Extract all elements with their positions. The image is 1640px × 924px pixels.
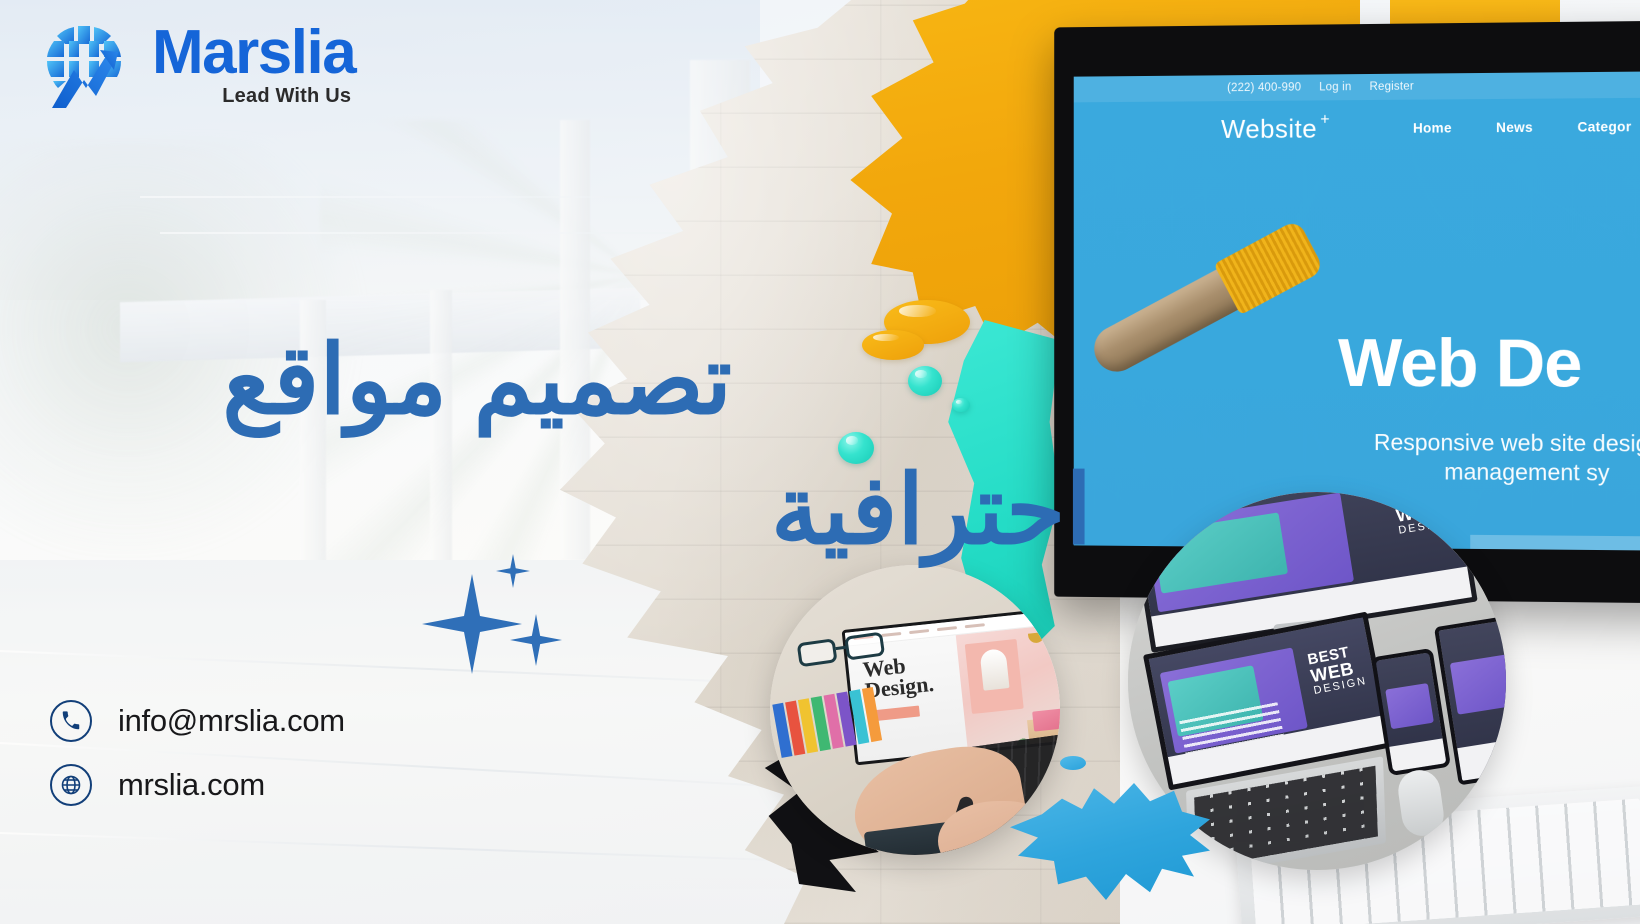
- teal-droplet-1: [908, 366, 942, 396]
- contact-block: info@mrslia.com mrslia.com: [50, 700, 345, 828]
- website-logo-text: Website: [1221, 113, 1317, 144]
- page-headline: تصميم مواقع احترافية: [0, 330, 760, 562]
- contact-row-email[interactable]: info@mrslia.com: [50, 700, 345, 742]
- nav-item-home[interactable]: Home: [1413, 120, 1452, 135]
- photo-designer-laptop: Web Design.: [770, 565, 1060, 855]
- room-screen: [1032, 708, 1060, 731]
- glasses-lens-right: [844, 632, 885, 661]
- topbar-register-link[interactable]: Register: [1369, 81, 1413, 93]
- blue-paint-dot: [1060, 756, 1086, 770]
- globe-icon: [50, 764, 92, 806]
- phone-bottom-strip: [1389, 739, 1446, 772]
- glasses-lens-left: [797, 638, 838, 667]
- phone-panel: [1385, 683, 1434, 730]
- hero-title: Web De: [1338, 324, 1581, 403]
- website-logo: Website+: [1221, 113, 1317, 145]
- contact-row-website[interactable]: mrslia.com: [50, 764, 345, 806]
- tablet-panel: [1450, 654, 1506, 715]
- website-nav-links: Home News Categor: [1413, 119, 1631, 136]
- topbar-login-link[interactable]: Log in: [1319, 81, 1351, 93]
- brand-tagline: Lead With Us: [222, 85, 351, 108]
- sparkle-small-icon: [496, 554, 530, 588]
- room-lamp: [1028, 632, 1045, 644]
- nav-bar-item-5: [965, 623, 985, 628]
- teal-droplet-2: [952, 398, 970, 412]
- monitor-screen: (222) 400-990 Log in Register Website+ H…: [1074, 71, 1640, 551]
- nav-bar-item-3: [909, 629, 929, 634]
- website-navbar: Website+ Home News Categor: [1074, 97, 1640, 157]
- laptop-headline: BEST WEB DESIGN: [1306, 642, 1368, 696]
- nav-bar-item-4: [937, 626, 957, 631]
- paintbrush-icon: [1074, 201, 1351, 445]
- headline-line-2: احترافية: [0, 460, 1092, 562]
- brand-logo[interactable]: Marslia Lead With Us: [34, 18, 355, 114]
- background-glass-line-2: [160, 232, 760, 234]
- globe-arrow-icon: [34, 18, 134, 114]
- nav-item-categories[interactable]: Categor: [1577, 119, 1631, 135]
- website-logo-plus: +: [1320, 111, 1330, 129]
- topbar-phone: (222) 400-990: [1227, 82, 1301, 95]
- headline-line-1: تصميم مواقع: [0, 330, 732, 432]
- sparkle-group: [398, 548, 568, 668]
- banner-canvas: (222) 400-990 Log in Register Website+ H…: [0, 0, 1640, 924]
- contact-email: info@mrslia.com: [118, 703, 345, 739]
- hero-subtitle: Responsive web site design a management …: [1267, 428, 1640, 490]
- sparkle-medium-icon: [510, 614, 562, 666]
- nav-item-news[interactable]: News: [1496, 119, 1533, 134]
- orange-paint-drip-2: [862, 330, 924, 360]
- imac-headline: BEST WEB DESIGN: [1392, 492, 1453, 537]
- phone-icon: [50, 700, 92, 742]
- sparkle-large-icon: [422, 574, 522, 674]
- brand-text: Marslia Lead With Us: [152, 24, 355, 108]
- contact-website: mrslia.com: [118, 767, 265, 803]
- tablet-bottom-strip: [1457, 736, 1506, 781]
- brand-name: Marslia: [152, 24, 355, 83]
